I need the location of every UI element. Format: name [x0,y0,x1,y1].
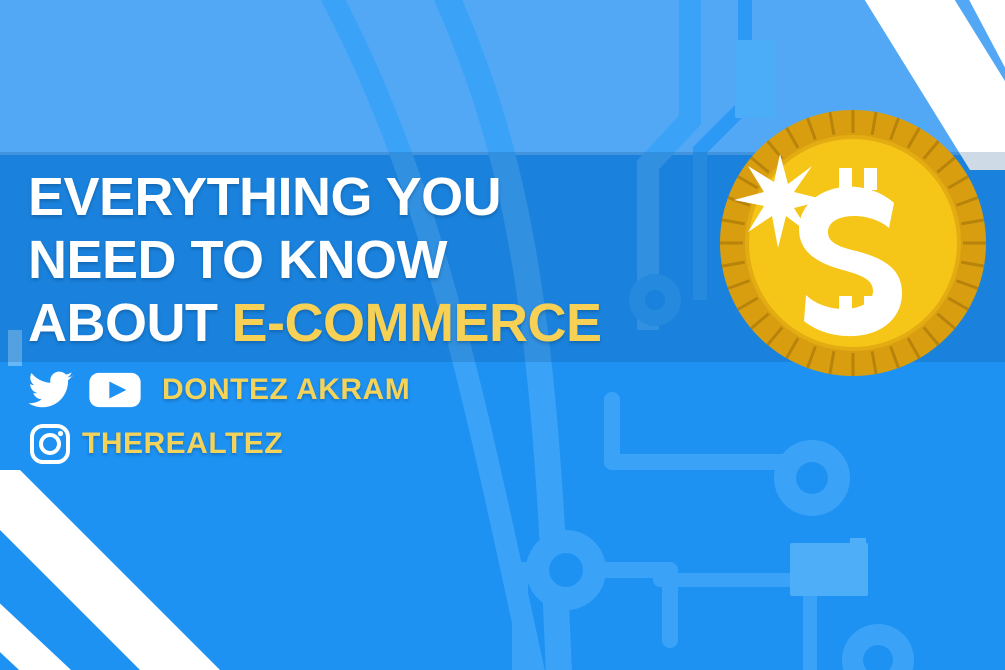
social-handle-primary: DONTEZ AKRAM [162,373,410,407]
youtube-icon[interactable] [88,371,142,409]
gold-dollar-coin [718,108,988,378]
instagram-icon[interactable] [28,422,72,466]
social-row-primary: DONTEZ AKRAM [28,366,648,414]
headline-line-2: NEED TO KNOW [28,233,648,287]
social-handles: DONTEZ AKRAM THEREALTEZ [28,366,648,468]
headline-line-1: EVERYTHING YOU [28,170,648,224]
social-handle-instagram: THEREALTEZ [82,427,283,461]
headline-accent-ecommerce: E-COMMERCE [231,296,601,350]
headline-block: EVERYTHING YOU NEED TO KNOW ABOUT E-COMM… [28,170,648,359]
social-row-instagram: THEREALTEZ [28,420,648,468]
headline-line-3: ABOUT E-COMMERCE [28,296,648,350]
headline-about: ABOUT [28,296,217,350]
promo-banner: EVERYTHING YOU NEED TO KNOW ABOUT E-COMM… [0,0,1005,670]
twitter-icon[interactable] [28,371,74,409]
